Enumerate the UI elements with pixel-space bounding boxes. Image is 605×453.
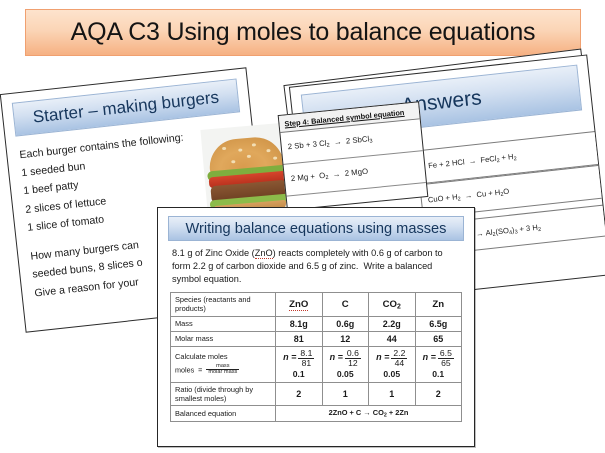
mass-cell: 2.2g: [369, 316, 416, 331]
species-cell: CO2: [369, 293, 416, 317]
step4-equation-text: 2 Mg + O2 → 2 MgO: [291, 167, 369, 185]
mass-cell: 8.1g: [276, 316, 323, 331]
species-cell: C: [322, 293, 369, 317]
row-label: Calculate moles moles = mass molar mass: [171, 346, 276, 382]
row-label: Mass: [171, 316, 276, 331]
molar-mass-cell: 12: [322, 331, 369, 346]
intro-underlined-term: ZnO: [255, 248, 273, 259]
main-worked-example-card[interactable]: Writing balance equations using masses 8…: [157, 207, 475, 447]
table-row-moles: Calculate moles moles = mass molar mass …: [171, 346, 462, 382]
moles-denominator: 12: [345, 359, 361, 368]
moles-fraction: 2.244: [391, 349, 407, 368]
intro-part-a: 8.1 g of Zinc Oxide (: [172, 248, 255, 258]
row-label: Balanced equation: [171, 406, 276, 421]
species-zno: ZnO: [289, 299, 308, 311]
moles-denominator: 44: [391, 359, 407, 368]
moles-denominator: 65: [438, 359, 454, 368]
moles-formula-label: moles: [175, 365, 194, 374]
mass-cell: 0.6g: [322, 316, 369, 331]
moles-formula-fraction: mass molar mass: [206, 364, 239, 377]
species-cell: Zn: [415, 293, 462, 317]
moles-denominator: 81: [298, 359, 314, 368]
table-row-ratio: Ratio (divide through by smallest moles)…: [171, 382, 462, 406]
moles-fraction: 0.612: [345, 349, 361, 368]
moles-fraction: 6.565: [438, 349, 454, 368]
moles-fraction: 8.181: [298, 349, 314, 368]
moles-formula-denominator: molar mass: [206, 370, 239, 376]
answer-equation-text: CuO + H2 → Cu + H2O: [427, 187, 509, 206]
ratio-cell: 2: [276, 382, 323, 406]
n-symbol: n =: [376, 352, 389, 362]
answer-equation-text: Fe + 2 HCl → FeCl2 + H2: [428, 152, 517, 172]
moles-formula: moles = mass molar mass: [175, 364, 271, 377]
n-symbol: n =: [423, 352, 436, 362]
table-row-balanced-equation: Balanced equation 2ZnO + C → CO2 + 2Zn: [171, 406, 462, 421]
n-symbol: n =: [283, 352, 296, 362]
n-symbol: n =: [330, 352, 343, 362]
moles-cell: n =0.612 0.05: [322, 346, 369, 382]
mass-cell: 6.5g: [415, 316, 462, 331]
row-label-text: Calculate moles: [175, 352, 228, 361]
moles-cell: n =2.244 0.05: [369, 346, 416, 382]
moles-result: 0.05: [373, 369, 411, 380]
molar-mass-cell: 81: [276, 331, 323, 346]
balanced-equation-cell: 2ZnO + C → CO2 + 2Zn: [276, 406, 462, 421]
moles-calculation-table: Species (reactants and products) ZnO C C…: [170, 292, 462, 422]
main-card-intro: 8.1 g of Zinc Oxide (ZnO) reacts complet…: [158, 241, 474, 291]
species-cell: ZnO: [276, 293, 323, 317]
row-label: Molar mass: [171, 331, 276, 346]
step4-equation-text: 2 Sb + 3 Cl2 → 2 SbCl3: [287, 134, 373, 153]
main-card-title: Writing balance equations using masses: [186, 221, 447, 237]
slide-canvas: AQA C3 Using moles to balance equations …: [0, 0, 605, 453]
step4-answer-card: Step 4: Balanced symbol equation 2 Sb + …: [278, 101, 429, 210]
moles-cell: n =6.565 0.1: [415, 346, 462, 382]
ratio-cell: 1: [369, 382, 416, 406]
row-label: Species (reactants and products): [171, 293, 276, 317]
page-title: AQA C3 Using moles to balance equations: [71, 18, 536, 47]
ratio-cell: 2: [415, 382, 462, 406]
moles-result: 0.1: [420, 369, 458, 380]
equals-sign: =: [196, 365, 204, 374]
molar-mass-cell: 65: [415, 331, 462, 346]
main-card-header: Writing balance equations using masses: [168, 216, 464, 241]
table-row-molar-mass: Molar mass 81 12 44 65: [171, 331, 462, 346]
ratio-cell: 1: [322, 382, 369, 406]
row-label: Ratio (divide through by smallest moles): [171, 382, 276, 406]
molar-mass-cell: 44: [369, 331, 416, 346]
table-row-mass: Mass 8.1g 0.6g 2.2g 6.5g: [171, 316, 462, 331]
table-row-species: Species (reactants and products) ZnO C C…: [171, 293, 462, 317]
page-title-banner: AQA C3 Using moles to balance equations: [25, 9, 581, 56]
moles-result: 0.05: [327, 369, 365, 380]
moles-result: 0.1: [280, 369, 318, 380]
moles-cell: n =8.181 0.1: [276, 346, 323, 382]
